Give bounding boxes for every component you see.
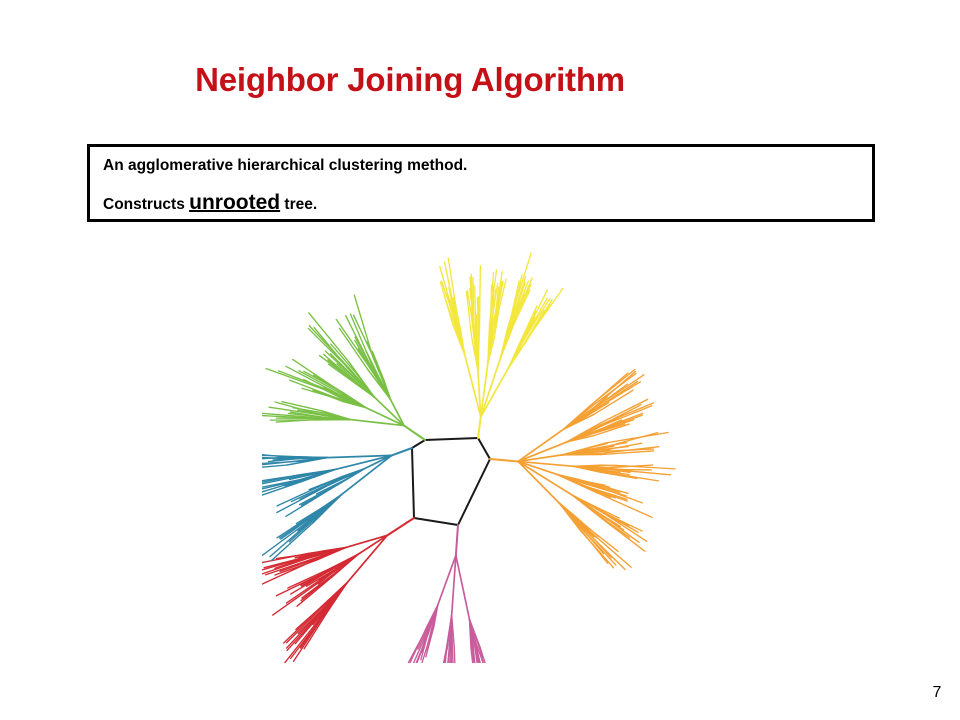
clade-leaf-branch <box>270 521 311 557</box>
backbone-edge <box>425 438 478 440</box>
body-text-box: An agglomerative hierarchical clustering… <box>87 144 875 222</box>
clade-leaf-branch <box>582 529 616 565</box>
clade-stem <box>490 459 518 461</box>
clade-stem <box>387 518 414 535</box>
slide-number: 7 <box>920 684 954 702</box>
clade-stem <box>456 525 458 555</box>
backbone-edge <box>458 459 490 525</box>
emphasis-unrooted: unrooted <box>189 191 280 214</box>
tree-clades-group <box>262 253 675 663</box>
body-line-suffix: tree. <box>280 196 317 213</box>
body-line-primary: An agglomerative hierarchical clustering… <box>103 158 872 174</box>
clade-leaf-branch <box>480 266 481 327</box>
clade-orange <box>490 369 675 569</box>
clade-green <box>262 295 425 440</box>
slide-canvas: Neighbor Joining Algorithm An agglomerat… <box>0 0 960 720</box>
page-title: Neighbor Joining Algorithm <box>60 62 760 98</box>
clade-blue <box>262 448 412 561</box>
clade-internal-branch <box>374 397 404 426</box>
body-line-secondary: Constructs unrooted tree. <box>103 192 872 213</box>
clade-leaf-branch <box>281 515 315 539</box>
tree-backbone-group <box>412 438 490 525</box>
backbone-edge <box>478 438 490 459</box>
backbone-edge <box>414 518 458 525</box>
clade-branch <box>508 342 520 368</box>
clade-internal-branch <box>456 555 470 619</box>
clade-red <box>262 518 414 663</box>
clade-stem <box>478 417 481 438</box>
clade-branch <box>500 326 509 358</box>
phylogenetic-tree-svg <box>262 248 714 663</box>
phylogenetic-tree-figure <box>262 248 714 663</box>
backbone-edge <box>412 440 425 448</box>
clade-leaf-branch <box>585 530 625 569</box>
body-line-prefix: Constructs <box>103 196 189 213</box>
clade-stem <box>404 426 425 440</box>
clade-leaf-branch <box>454 649 456 663</box>
clade-leaf-branch <box>262 465 287 470</box>
clade-leaf-branch <box>609 473 658 481</box>
clade-branch <box>313 494 342 522</box>
clade-stem <box>392 448 412 455</box>
clade-branch <box>559 503 583 524</box>
clade-yellow <box>440 253 563 438</box>
clade-magenta <box>396 525 493 663</box>
backbone-edge <box>412 448 414 518</box>
